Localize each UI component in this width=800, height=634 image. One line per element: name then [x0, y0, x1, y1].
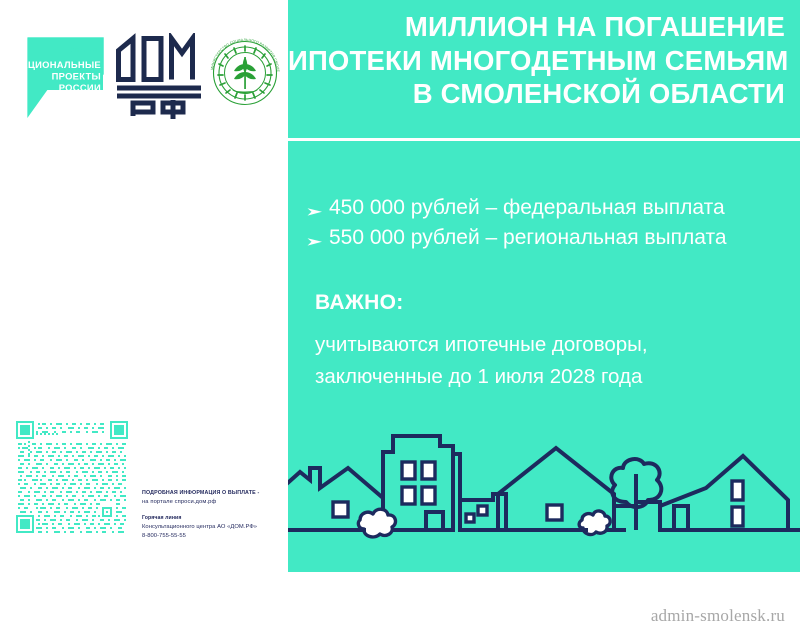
- svg-text:ПРОЕКТЫ: ПРОЕКТЫ: [52, 71, 101, 82]
- houses-illustration: [288, 402, 800, 572]
- important-line-1: учитываются ипотечные договоры,: [315, 329, 785, 361]
- payment-info-block: ПОДРОБНАЯ ИНФОРМАЦИЯ О ВЫПЛАТЕ - на порт…: [142, 490, 292, 541]
- svg-text:НАЦИОНАЛЬНЫЕ: НАЦИОНАЛЬНЫЕ: [25, 59, 101, 70]
- important-notice: ВАЖНО: учитываются ипотечные договоры, з…: [315, 292, 785, 393]
- info-title: ПОДРОБНАЯ ИНФОРМАЦИЯ О ВЫПЛАТЕ -: [142, 490, 292, 498]
- hotline-organization: Консультационного центра АО «ДОМ.РФ»: [142, 523, 292, 532]
- bullet-text: 550 000 рублей – региональная выплата: [329, 223, 727, 253]
- important-title: ВАЖНО:: [315, 292, 785, 313]
- hotline-phone: 8-800-755-55-55: [142, 532, 292, 541]
- list-item: 550 000 рублей – региональная выплата: [306, 223, 786, 253]
- important-line-2: заключенные до 1 июля 2028 года: [315, 361, 785, 393]
- page-title: МИЛЛИОН НА ПОГАШЕНИЕ ИПОТЕКИ МНОГОДЕТНЫМ…: [288, 10, 785, 111]
- info-subtitle: на портале спроси.дом.рф: [142, 498, 292, 507]
- qr-code[interactable]: [14, 419, 130, 535]
- ministry-emblem: МИНИСТЕРСТВО СОЦИАЛЬНОГО РАЗВИТИЯ СМОЛЕН…: [204, 24, 286, 118]
- payment-bullet-list: 450 000 рублей – федеральная выплата 550…: [306, 193, 786, 253]
- teal-panel: МИЛЛИОН НА ПОГАШЕНИЕ ИПОТЕКИ МНОГОДЕТНЫМ…: [288, 0, 800, 572]
- svg-text:СЕМЬЯ: СЕМЬЯ: [70, 47, 98, 54]
- hotline-title: Горячая линия: [142, 515, 292, 523]
- national-projects-logo: СЕМЬЯ НАЦИОНАЛЬНЫЕ ПРОЕКТЫ РОССИИ: [25, 30, 111, 128]
- heading-line-2: ИПОТЕКИ МНОГОДЕТНЫМ СЕМЬЯМ: [288, 44, 785, 78]
- heading-line-3: В СМОЛЕНСКОЙ ОБЛАСТИ: [288, 77, 785, 111]
- heading-line-1: МИЛЛИОН НА ПОГАШЕНИЕ: [288, 10, 785, 44]
- svg-text:РОССИИ: РОССИИ: [59, 82, 101, 93]
- domrf-logo: [113, 33, 205, 121]
- site-watermark: admin-smolensk.ru: [651, 606, 785, 626]
- arrow-bullet-icon: [306, 230, 326, 248]
- header-divider: [288, 138, 800, 141]
- arrow-bullet-icon: [306, 200, 326, 218]
- left-column: СЕМЬЯ НАЦИОНАЛЬНЫЕ ПРОЕКТЫ РОССИИ: [0, 0, 288, 634]
- poster-root: СЕМЬЯ НАЦИОНАЛЬНЫЕ ПРОЕКТЫ РОССИИ: [0, 0, 800, 634]
- list-item: 450 000 рублей – федеральная выплата: [306, 193, 786, 223]
- bullet-text: 450 000 рублей – федеральная выплата: [329, 193, 725, 223]
